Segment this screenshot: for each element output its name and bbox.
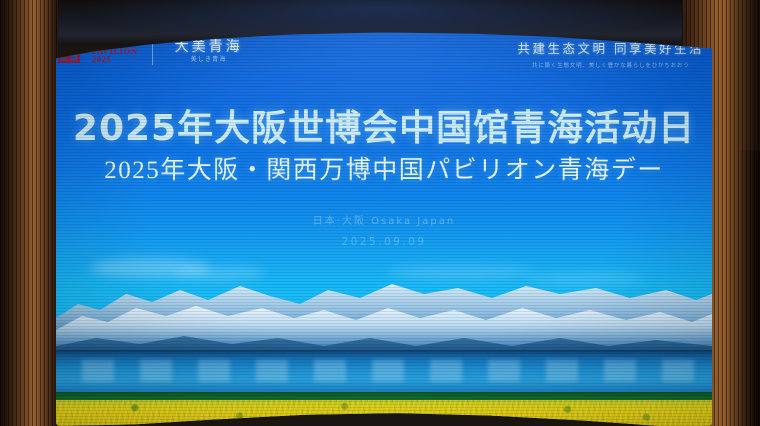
qinghai-brand-jp: 美しき青海: [191, 57, 227, 63]
headline-japanese: 2025年大阪・関西万博中国パビリオン青海デー: [56, 156, 712, 186]
event-date: 2025.09.09: [56, 236, 712, 248]
led-stage-screen: CHINA PAVILION 2025 大美青海 美しき青海 共建生态文明 同享…: [56, 22, 712, 426]
headline-chinese: 2025年大阪世博会中国馆青海活动日: [56, 108, 712, 150]
venue-photo: CHINA PAVILION 2025 大美青海 美しき青海 共建生态文明 同享…: [0, 0, 760, 426]
slogan-jp: 共に築く生態文明、美しく豊かな暮らしをひかちおおう: [518, 61, 704, 69]
qinghai-brand-cn: 大美青海: [175, 40, 243, 54]
screen-content: CHINA PAVILION 2025 大美青海 美しき青海 共建生态文明 同享…: [56, 22, 712, 426]
event-location: 日本·大阪 Osaka Japan: [56, 212, 712, 227]
brand-en-line3: 2025: [92, 55, 138, 64]
event-headline: 2025年大阪世博会中国馆青海活动日 2025年大阪・関西万博中国パビリオン青海…: [56, 108, 712, 186]
wood-wall-left-shadow: [0, 0, 58, 426]
event-subtitle: 日本·大阪 Osaka Japan 2025.09.09: [56, 212, 712, 248]
qinghai-brand: 大美青海 美しき青海: [175, 40, 243, 63]
